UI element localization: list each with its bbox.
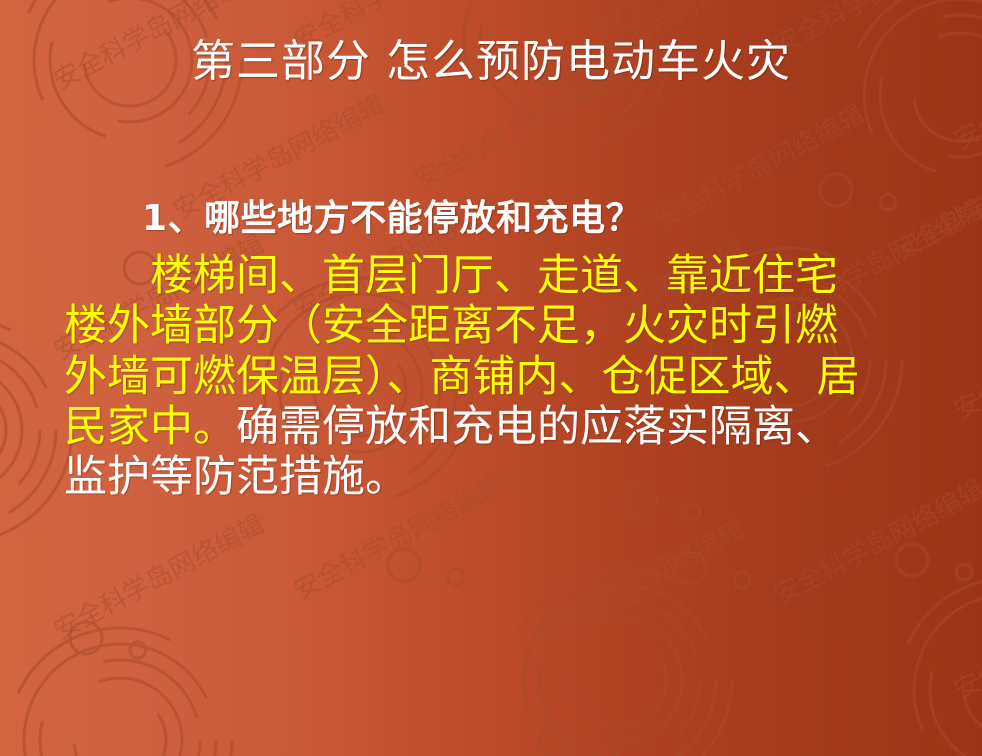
slide-content: 第三部分 怎么预防电动车火灾 1、哪些地方不能停放和充电？ 楼梯间、首层门厅、走… bbox=[0, 0, 982, 756]
question-punct: 、 bbox=[168, 197, 205, 239]
body-block: 1、哪些地方不能停放和充电？ 楼梯间、首层门厅、走道、靠近住宅楼外墙部分（安全距… bbox=[64, 196, 864, 502]
question-heading: 1、哪些地方不能停放和充电？ bbox=[64, 196, 864, 241]
page-title: 第三部分 怎么预防电动车火灾 bbox=[0, 36, 982, 88]
answer-paragraph: 楼梯间、首层门厅、走道、靠近住宅楼外墙部分（安全距离不足，火灾时引燃外墙可燃保温… bbox=[64, 251, 864, 502]
question-text: 哪些地方不能停放和充电？ bbox=[204, 197, 642, 239]
slide-canvas: 安全科学岛网络编辑安全科学岛网络编辑安全科学岛网络编辑安全科学岛网络编辑安全科学… bbox=[0, 0, 982, 756]
question-number: 1 bbox=[142, 198, 168, 239]
